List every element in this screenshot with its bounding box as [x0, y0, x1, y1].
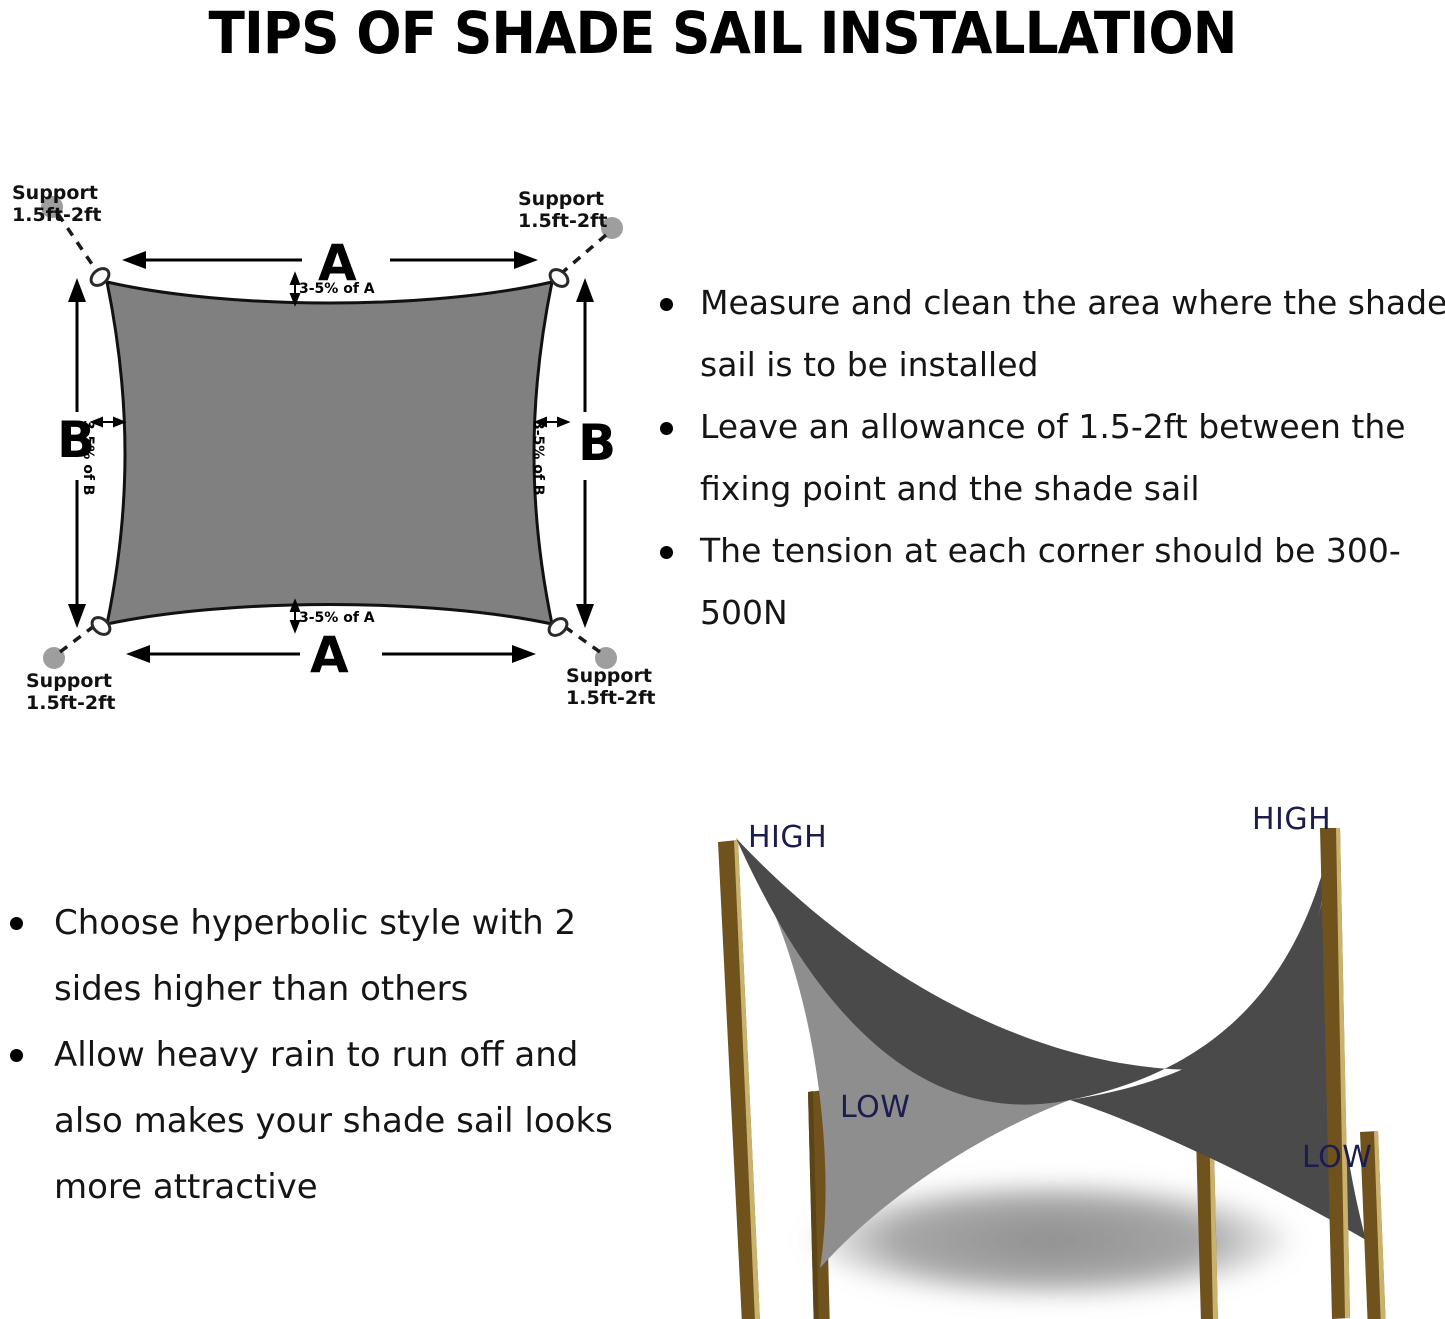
bullet-list: Measure and clean the area where the sha…	[648, 272, 1445, 644]
bullet-dot-icon	[10, 917, 23, 930]
infographic-page: TIPS OF SHADE SAIL INSTALLATION	[0, 0, 1445, 1319]
support-label-line1: Support	[518, 188, 607, 210]
curve-label-a-bottom: 3-5% of A	[299, 610, 375, 626]
tether-line-top-right	[557, 235, 606, 277]
support-label-line1: Support	[566, 665, 655, 687]
arrowhead-a-top-left	[122, 251, 146, 269]
label-low-right: LOW	[1302, 1140, 1372, 1175]
support-label-bottom-left: Support 1.5ft-2ft	[26, 670, 115, 714]
list-item: Measure and clean the area where the sha…	[648, 272, 1445, 396]
support-label-line2: 1.5ft-2ft	[518, 210, 607, 232]
tips-list-right: Measure and clean the area where the sha…	[648, 272, 1445, 644]
arrowhead-a-bottom-right	[512, 645, 536, 663]
support-label-line1: Support	[12, 182, 101, 204]
list-item: Leave an allowance of 1.5-2ft between th…	[648, 396, 1445, 520]
dimension-letter-a-bottom: A	[310, 630, 349, 680]
list-item: Allow heavy rain to run off and also mak…	[4, 1022, 624, 1220]
support-label-line2: 1.5ft-2ft	[26, 692, 115, 714]
arrowhead-b-right-bottom	[576, 604, 594, 628]
arrowhead-a-top-right	[514, 251, 538, 269]
list-item-text: The tension at each corner should be 300…	[700, 531, 1401, 632]
support-label-line2: 1.5ft-2ft	[12, 204, 101, 226]
curve-label-b-left: 3-5% of B	[80, 420, 96, 495]
label-high-left: HIGH	[748, 820, 827, 855]
dimension-letter-b-right: B	[578, 418, 616, 468]
page-title: TIPS OF SHADE SAIL INSTALLATION	[58, 2, 1387, 64]
bullet-dot-icon	[660, 298, 673, 311]
list-item-text: Measure and clean the area where the sha…	[700, 283, 1445, 384]
curve-label-a-top: 3-5% of A	[299, 281, 375, 297]
support-label-top-right: Support 1.5ft-2ft	[518, 188, 607, 232]
arrowhead-b-left-bottom	[68, 604, 86, 628]
tips-list-bottom-left: Choose hyperbolic style with 2 sides hig…	[4, 890, 624, 1220]
label-low-left: LOW	[840, 1090, 910, 1125]
arrowhead-a-bottom-left	[126, 645, 150, 663]
list-item: The tension at each corner should be 300…	[648, 520, 1445, 644]
arrowhead-b-right-top	[576, 278, 594, 302]
curve-label-b-right: 3-5% of B	[530, 420, 546, 495]
bullet-dot-icon	[10, 1049, 23, 1062]
support-label-top-left: Support 1.5ft-2ft	[12, 182, 101, 226]
support-label-line1: Support	[26, 670, 115, 692]
bullet-list: Choose hyperbolic style with 2 sides hig…	[4, 890, 624, 1220]
list-item-text: Choose hyperbolic style with 2 sides hig…	[54, 903, 576, 1009]
list-item-text: Allow heavy rain to run off and also mak…	[54, 1035, 613, 1207]
list-item: Choose hyperbolic style with 2 sides hig…	[4, 890, 624, 1022]
bullet-dot-icon	[660, 422, 673, 435]
list-item-text: Leave an allowance of 1.5-2ft between th…	[700, 407, 1406, 508]
support-label-bottom-right: Support 1.5ft-2ft	[566, 665, 655, 709]
bullet-dot-icon	[660, 546, 673, 559]
support-label-line2: 1.5ft-2ft	[566, 687, 655, 709]
arrowhead-b-left-top	[68, 278, 86, 302]
label-high-right: HIGH	[1252, 802, 1331, 837]
shade-sail-shape	[107, 282, 552, 624]
